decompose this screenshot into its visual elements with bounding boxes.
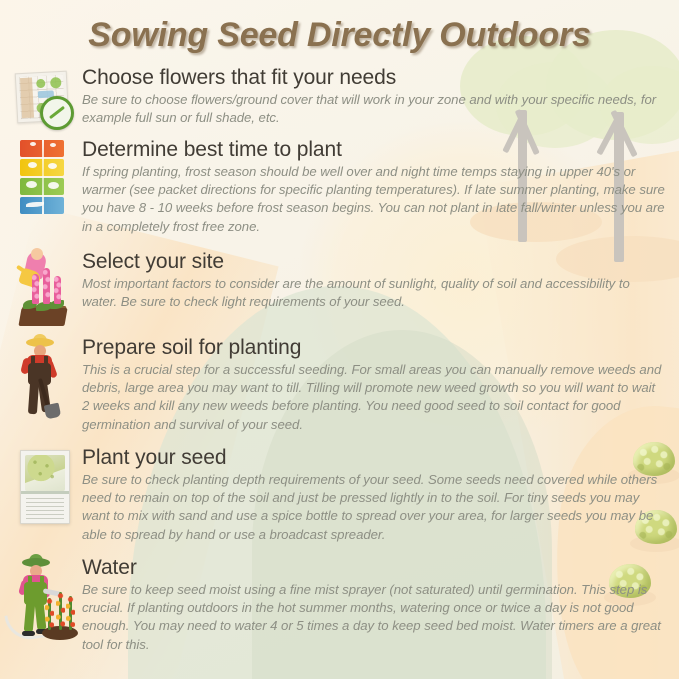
gardener-shoe	[22, 631, 35, 636]
section-body: This is a crucial step for a successful …	[82, 361, 665, 435]
season-leaf	[48, 163, 57, 169]
season-leaf	[48, 182, 59, 189]
person-head	[31, 248, 43, 260]
section-heading: Plant your seed	[82, 446, 665, 470]
season-leaf	[30, 142, 36, 146]
section-body: If spring planting, frost season should …	[82, 163, 665, 237]
section-heading: Water	[82, 556, 665, 580]
section-text: Prepare soil for planting This is a cruc…	[82, 336, 665, 434]
section-text: Select your site Most important factors …	[82, 250, 665, 311]
seed-packet-icon	[12, 446, 78, 532]
season-band-summer	[20, 159, 64, 176]
infographic-poster: Sowing Seed Directly Outdoors	[0, 0, 679, 679]
season-leaf	[50, 143, 56, 147]
flower-stem	[48, 598, 51, 630]
seed-packet	[20, 450, 70, 524]
section-body: Be sure to keep seed moist using a fine …	[82, 581, 665, 655]
section-heading: Prepare soil for planting	[82, 336, 665, 360]
section-text: Determine best time to plant If spring p…	[82, 138, 665, 236]
season-leaf	[26, 181, 37, 188]
flower-stem	[59, 592, 62, 630]
compass-icon	[40, 96, 74, 130]
shovel-blade	[44, 403, 62, 420]
four-seasons-icon	[12, 138, 78, 224]
section-heading: Determine best time to plant	[82, 138, 665, 162]
gardener-shovel-icon	[12, 336, 78, 422]
gardener-leg	[28, 382, 39, 415]
packet-band	[21, 491, 69, 494]
foxglove-spike	[43, 268, 50, 304]
section-body: Be sure to choose flowers/ground cover t…	[82, 91, 665, 128]
foxglove-spike	[32, 274, 39, 304]
section-heading: Select your site	[82, 250, 665, 274]
section-text: Choose flowers that fit your needs Be su…	[82, 66, 665, 127]
packet-text-lines	[26, 495, 64, 519]
section-heading: Choose flowers that fit your needs	[82, 66, 665, 90]
section-text: Plant your seed Be sure to check plantin…	[82, 446, 665, 544]
season-leaf	[28, 162, 37, 168]
season-band-autumn	[20, 140, 64, 157]
section-text: Water Be sure to keep seed moist using a…	[82, 556, 665, 654]
page-title: Sowing Seed Directly Outdoors	[0, 16, 679, 55]
packet-illustration	[25, 455, 65, 491]
plan-zone	[20, 77, 34, 118]
flower-stem	[69, 596, 72, 630]
foxglove-spike	[54, 276, 61, 304]
gardener-watering-icon	[12, 556, 78, 642]
planter-flowers-icon	[12, 250, 78, 336]
section-body: Be sure to check planting depth requirem…	[82, 471, 665, 545]
section-body: Most important factors to consider are t…	[82, 275, 665, 312]
